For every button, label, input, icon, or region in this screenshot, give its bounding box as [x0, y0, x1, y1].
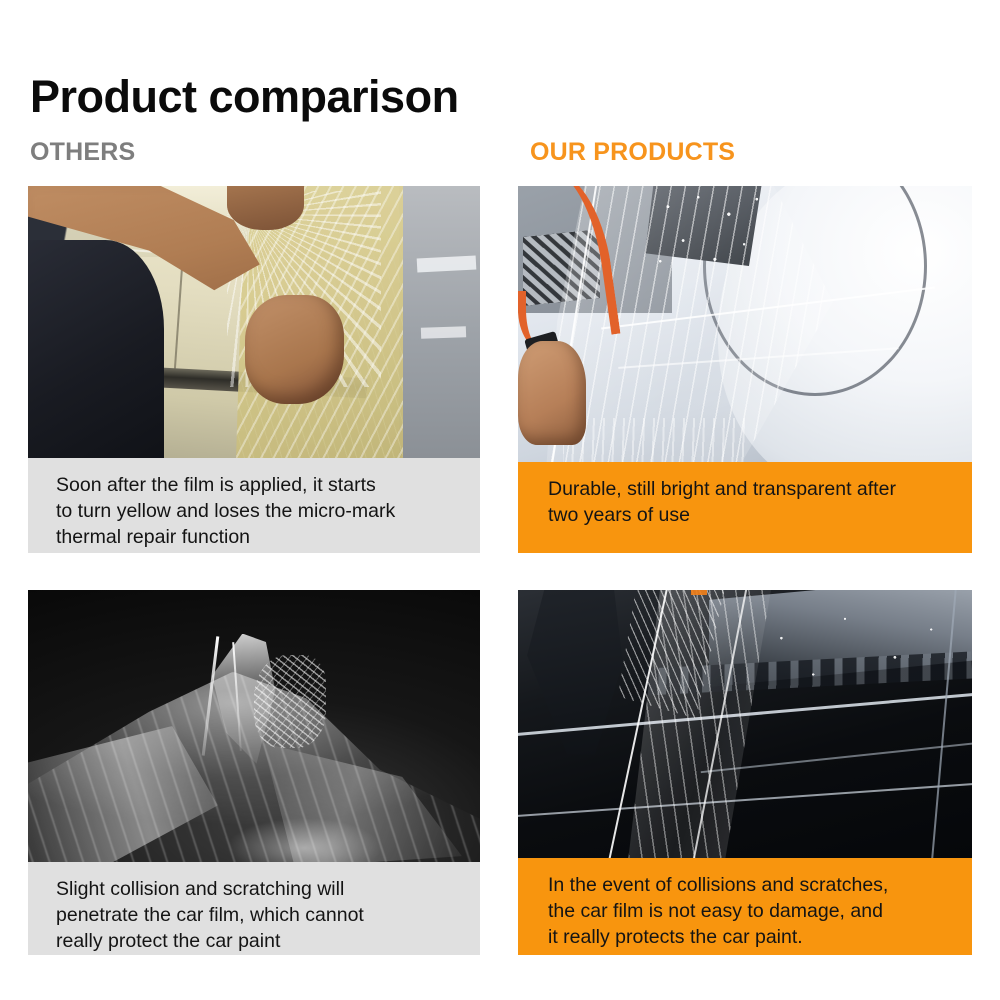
column-heading-our-products: OUR PRODUCTS [530, 140, 735, 165]
photo-ours-film-black-car [518, 590, 972, 858]
comparison-card-ours-durability: Durable, still bright and transparent af… [518, 186, 972, 553]
column-heading-others: OTHERS [30, 140, 135, 165]
comparison-card-others-protection: Slight collision and scratching will pen… [28, 590, 480, 955]
caption-line: In the event of collisions and scratches… [548, 872, 972, 898]
page-title: Product comparison [30, 74, 459, 119]
caption-line: Soon after the film is applied, it start… [56, 472, 480, 498]
caption-line: Slight collision and scratching will [56, 876, 480, 902]
caption-line: really protect the car paint [56, 928, 480, 954]
caption-others-durability: Soon after the film is applied, it start… [28, 458, 480, 553]
photo-others-yellowed-film [28, 186, 480, 458]
caption-ours-protection: In the event of collisions and scratches… [518, 858, 972, 955]
caption-line: to turn yellow and loses the micro-mark [56, 498, 480, 524]
caption-line: thermal repair function [56, 524, 480, 550]
comparison-card-ours-protection: In the event of collisions and scratches… [518, 590, 972, 955]
caption-line: it really protects the car paint. [548, 924, 972, 950]
caption-line: Durable, still bright and transparent af… [548, 476, 972, 502]
photo-ours-clear-film-white-car [518, 186, 972, 462]
caption-line: two years of use [548, 502, 972, 528]
comparison-card-others-durability: Soon after the film is applied, it start… [28, 186, 480, 553]
caption-line: penetrate the car film, which cannot [56, 902, 480, 928]
caption-ours-durability: Durable, still bright and transparent af… [518, 462, 972, 553]
photo-others-thin-film-black-bg [28, 590, 480, 862]
caption-others-protection: Slight collision and scratching will pen… [28, 862, 480, 955]
caption-line: the car film is not easy to damage, and [548, 898, 972, 924]
